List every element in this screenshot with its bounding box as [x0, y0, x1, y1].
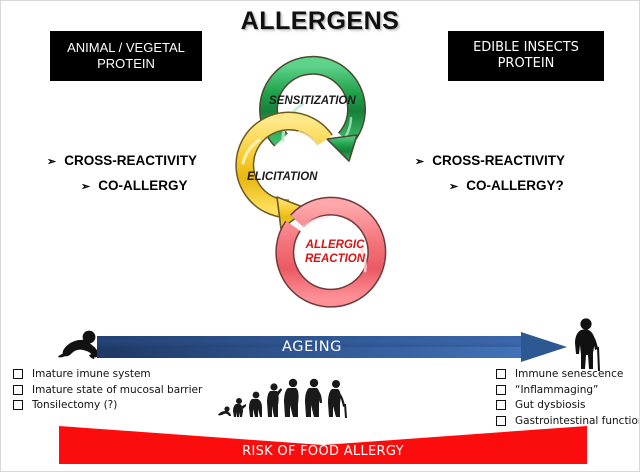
list-item: Gastrointestinal function — [496, 415, 640, 427]
allergy-cycle-diagram: SENSITIZATION ELICITATION ALLERGIC REACT… — [233, 43, 413, 321]
arrow-bullet-icon: ➢ — [415, 155, 424, 168]
right-bullet-label-2: CO-ALLERGY? — [466, 178, 564, 193]
arrow-bullet-icon: ➢ — [81, 180, 90, 193]
right-check-label-1: Immune senescence — [515, 368, 623, 380]
edible-insects-protein-line1: EDIBLE INSECTS — [473, 40, 579, 56]
infant-risk-factors-list: Imature imune system Imature state of mu… — [13, 368, 202, 415]
left-bullet-label-2: CO-ALLERGY — [98, 178, 187, 193]
left-bullet-list: ➢ CROSS-REACTIVITY ➢ CO-ALLERGY — [47, 153, 197, 193]
edible-insects-protein-line2: PROTEIN — [473, 56, 579, 72]
right-check-label-2: “Inflammaging” — [515, 384, 598, 396]
animal-vegetal-protein-box: ANIMAL / VEGETAL PROTEIN — [50, 31, 202, 81]
list-item: Tonsilectomy (?) — [13, 399, 202, 411]
list-item: “Inflammaging” — [496, 384, 640, 396]
baby-silhouette-icon — [56, 330, 102, 365]
left-check-label-2: Imature state of mucosal barrier — [32, 384, 202, 396]
right-check-label-4: Gastrointestinal function — [515, 415, 640, 427]
elicitation-label: ELICITATION — [247, 171, 317, 183]
right-check-label-3: Gut dysbiosis — [515, 399, 585, 411]
checkbox-icon — [496, 385, 506, 395]
allergic-reaction-line1: ALLERGIC — [305, 239, 365, 253]
elderly-risk-factors-list: Immune senescence “Inflammaging” Gut dys… — [496, 368, 640, 430]
risk-of-food-allergy-banner: RISK OF FOOD ALLERGY — [59, 426, 587, 464]
list-item: Gut dysbiosis — [496, 399, 640, 411]
list-item: Imature state of mucosal barrier — [13, 384, 202, 396]
human-ageing-progression-icon — [217, 372, 357, 423]
checkbox-icon — [496, 400, 506, 410]
checkbox-icon — [13, 400, 23, 410]
arrow-bullet-icon: ➢ — [47, 155, 56, 168]
left-bullet-cross-reactivity: ➢ CROSS-REACTIVITY — [47, 153, 197, 168]
checkbox-icon — [496, 369, 506, 379]
allergic-reaction-line2: REACTION — [305, 253, 365, 267]
edible-insects-protein-box: EDIBLE INSECTS PROTEIN — [448, 31, 604, 81]
animal-vegetal-protein-line2: PROTEIN — [67, 56, 185, 72]
right-bullet-cross-reactivity: ➢ CROSS-REACTIVITY — [415, 153, 565, 168]
right-bullet-list: ➢ CROSS-REACTIVITY ➢ CO-ALLERGY? — [415, 153, 565, 193]
slide-canvas: ALLERGENS ANIMAL / VEGETAL PROTEIN EDIBL… — [0, 0, 640, 472]
left-bullet-co-allergy: ➢ CO-ALLERGY — [81, 178, 197, 193]
right-bullet-label-1: CROSS-REACTIVITY — [432, 153, 565, 168]
checkbox-icon — [13, 385, 23, 395]
left-bullet-label-1: CROSS-REACTIVITY — [64, 153, 197, 168]
checkbox-icon — [13, 369, 23, 379]
list-item: Imature imune system — [13, 368, 202, 380]
left-check-label-3: Tonsilectomy (?) — [32, 399, 117, 411]
list-item: Immune senescence — [496, 368, 640, 380]
ageing-arrow: AGEING — [97, 332, 567, 362]
ageing-label: AGEING — [97, 332, 527, 362]
left-check-label-1: Imature imune system — [32, 368, 151, 380]
allergic-reaction-label: ALLERGIC REACTION — [305, 239, 365, 266]
animal-vegetal-protein-line1: ANIMAL / VEGETAL — [67, 40, 185, 56]
right-bullet-co-allergy: ➢ CO-ALLERGY? — [449, 178, 565, 193]
arrow-bullet-icon: ➢ — [449, 180, 458, 193]
checkbox-icon — [496, 416, 506, 426]
sensitization-label: SENSITIZATION — [269, 95, 356, 107]
risk-of-food-allergy-label: RISK OF FOOD ALLERGY — [59, 426, 587, 464]
